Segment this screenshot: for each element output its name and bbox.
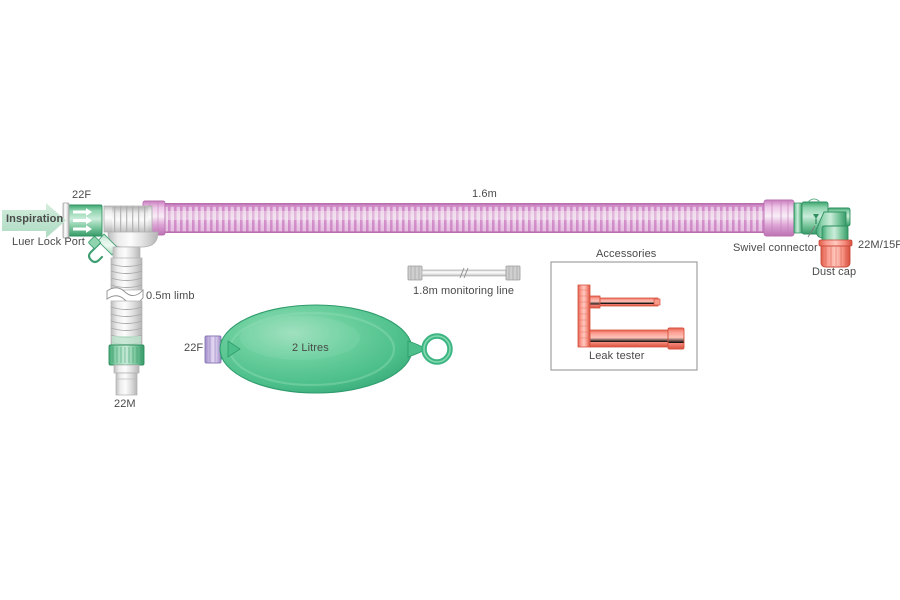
- port-22m-limb-label: 22M: [114, 399, 136, 410]
- flow-arrows-icon: [73, 208, 92, 233]
- swivel-connector-label: Swivel connector: [733, 243, 818, 254]
- breathing-circuit-illustration: [0, 0, 900, 600]
- limb-end-connector: [109, 345, 144, 395]
- y-piece-connector: [63, 203, 158, 262]
- diagram-canvas: Inspiration 22F Luer Lock Port 0.5m limb…: [0, 0, 900, 600]
- bag-port-22f-label: 22F: [184, 343, 203, 354]
- accessories-label: Accessories: [596, 249, 656, 260]
- limb-corrugations-lower: [111, 301, 142, 347]
- dust-cap: [819, 240, 852, 267]
- leak-tester-label: Leak tester: [589, 351, 645, 362]
- bag-volume-label: 2 Litres: [292, 343, 329, 354]
- main-breathing-tube: [143, 200, 794, 236]
- monitoring-line-label: 1.8m monitoring line: [413, 286, 514, 297]
- port-22f-inlet-label: 22F: [72, 190, 91, 201]
- limb-length-label: 0.5m limb: [146, 291, 195, 302]
- inspiration-label: Inspiration: [6, 214, 63, 225]
- monitoring-line: [408, 266, 520, 280]
- patient-limb-tube: [107, 247, 144, 395]
- main-tube-length-label: 1.6m: [472, 189, 497, 200]
- swivel-elbow-connector: [794, 199, 850, 244]
- luer-lock-port-label: Luer Lock Port: [12, 237, 85, 248]
- dust-cap-label: Dust cap: [812, 267, 856, 278]
- reservoir-bag-connector: [205, 336, 221, 363]
- port-22m15f-label: 22M/15F: [858, 240, 900, 251]
- limb-corrugations-upper: [111, 258, 142, 290]
